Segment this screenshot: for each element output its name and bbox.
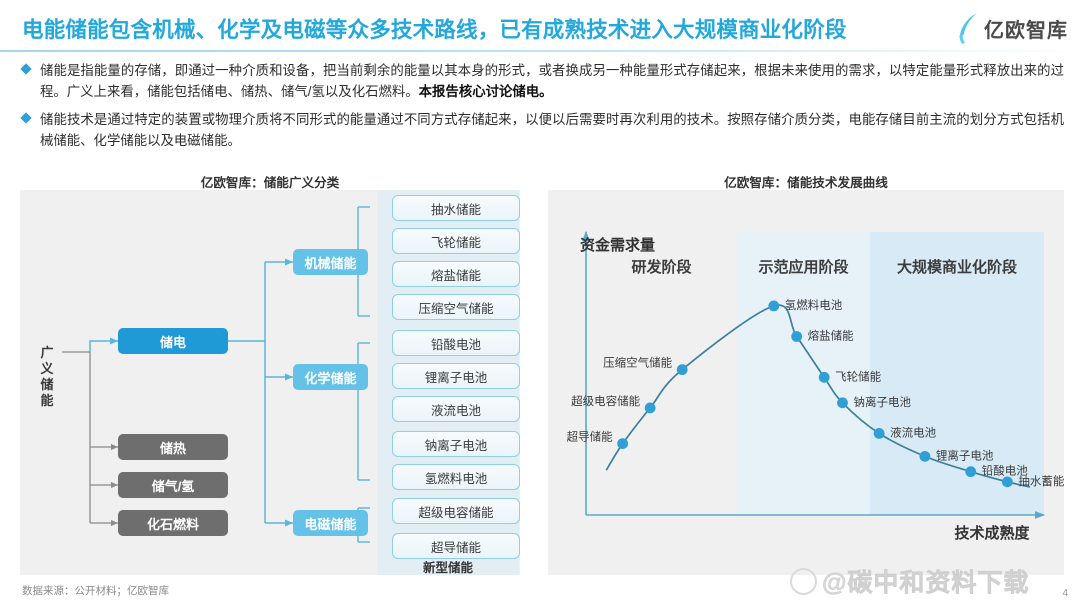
page-title: 电能储能包含机械、化学及电磁等众多技术路线，已有成熟技术进入大规模商业化阶段 — [22, 13, 847, 44]
node-chuqi[interactable]: 储气/氢 — [118, 472, 228, 498]
slide-header: 电能储能包含机械、化学及电磁等众多技术路线，已有成熟技术进入大规模商业化阶段 亿… — [0, 0, 1080, 52]
chart-data-point[interactable] — [1002, 476, 1013, 487]
chart-point-label: 超导储能 — [567, 430, 613, 444]
leaf-qingranliao-dianchi[interactable]: 氢燃料电池 — [392, 464, 520, 490]
bullet-diamond-icon — [20, 112, 31, 123]
slide-root: 电能储能包含机械、化学及电磁等众多技术路线，已有成熟技术进入大规模商业化阶段 亿… — [0, 0, 1080, 607]
bullet-diamond-icon — [20, 63, 31, 74]
chart-band-label: 研发阶段 — [632, 258, 692, 276]
leaf-yeliu-dianchi[interactable]: 液流电池 — [392, 396, 520, 422]
chart-data-point[interactable] — [819, 372, 830, 383]
right-panel-title: 亿欧智库：储能技术发展曲线 — [548, 172, 1064, 191]
chart-point-label: 抽水蓄能 — [1018, 474, 1064, 488]
sprout-leaf-icon — [956, 11, 982, 45]
chart-point-label: 超级电容储能 — [571, 394, 640, 408]
brand-logo: 亿欧智库 — [956, 8, 1068, 48]
node-huaxue-chuneng[interactable]: 化学储能 — [293, 364, 368, 390]
node-jixie-chuneng[interactable]: 机械储能 — [293, 249, 368, 275]
chart-band-label: 大规模商业化阶段 — [897, 258, 1017, 276]
leaf-chouxui-chuneng[interactable]: 抽水储能 — [392, 195, 520, 221]
chart-band-label: 示范应用阶段 — [759, 258, 849, 276]
leaf-lilizi-dianchi[interactable]: 锂离子电池 — [392, 363, 520, 389]
chart-y-axis-label: 资金需求量 — [580, 236, 655, 254]
leaf-yasuo-kongqi-chuneng[interactable]: 压缩空气储能 — [392, 294, 520, 320]
bullet-item-1: 储能是指能量的存储，即通过一种介质和设备，把当前剩余的能量以其本身的形式，或者换… — [18, 60, 1064, 102]
node-churen[interactable]: 储热 — [118, 434, 228, 460]
chart-point-label: 压缩空气储能 — [603, 356, 672, 370]
node-diancai-chuneng[interactable]: 电磁储能 — [293, 510, 368, 536]
chart-point-label: 液流电池 — [890, 425, 936, 439]
bullet-1-emphasis: 本报告核心讨论储电。 — [419, 84, 553, 99]
leaf-feilun-chuneng[interactable]: 飞轮储能 — [392, 228, 520, 254]
watermark: @碳中和资料下载 — [790, 563, 1029, 599]
node-huashiranliao[interactable]: 化石燃料 — [118, 510, 228, 536]
new-type-storage-label: 新型储能 — [377, 557, 519, 576]
brand-name: 亿欧智库 — [984, 14, 1068, 43]
chart-point-label: 熔盐储能 — [808, 329, 854, 343]
watermark-text: @碳中和资料下载 — [822, 563, 1029, 599]
watermark-badge-icon — [790, 568, 817, 595]
chart-data-point[interactable] — [645, 403, 656, 414]
chart-point-label: 锂离子电池 — [936, 448, 994, 462]
leaf-qiansuan-dianchi[interactable]: 铅酸电池 — [392, 330, 520, 356]
chart-data-point[interactable] — [791, 331, 802, 342]
chart-x-axis-label: 技术成熟度 — [954, 524, 1030, 542]
leaf-nalizi-dianchi[interactable]: 钠离子电池 — [392, 431, 520, 457]
chart-data-point[interactable] — [874, 428, 885, 439]
chart-data-point[interactable] — [617, 438, 628, 449]
bullet-list: 储能是指能量的存储，即通过一种介质和设备，把当前剩余的能量以其本身的形式，或者换… — [18, 60, 1064, 158]
data-source-note: 数据来源：公开材料；亿欧智库 — [22, 583, 169, 598]
chart-data-point[interactable] — [768, 301, 779, 312]
chart-point-label: 飞轮储能 — [835, 369, 881, 383]
leaf-chaodao-chuneng[interactable]: 超导储能 — [392, 533, 520, 559]
diagram-root-label: 广义储能 — [38, 345, 56, 409]
chart-data-point[interactable] — [920, 451, 931, 462]
chart-point-label: 钠离子电池 — [853, 395, 911, 409]
leaf-rongyan-chuneng[interactable]: 熔盐储能 — [392, 261, 520, 287]
left-panel-title: 亿欧智库：储能广义分类 — [20, 172, 520, 191]
header-divider — [0, 50, 1080, 52]
chart-data-point[interactable] — [677, 364, 688, 375]
development-curve-chart: 超导储能超级电容储能压缩空气储能氢燃料电池熔盐储能飞轮储能钠离子电池液流电池锂离… — [548, 190, 1064, 575]
page-number: 4 — [1062, 588, 1068, 599]
bullet-2-text: 储能技术是通过特定的装置或物理介质将不同形式的能量通过不同方式存储起来，以便以后… — [40, 112, 1064, 148]
chart-point-label: 氢燃料电池 — [785, 298, 843, 312]
leaf-chaoji-dianrong-chuneng[interactable]: 超级电容储能 — [392, 498, 520, 524]
bullet-item-2: 储能技术是通过特定的装置或物理介质将不同形式的能量通过不同方式存储起来，以便以后… — [18, 109, 1064, 151]
chart-data-point[interactable] — [965, 466, 976, 477]
node-chudian[interactable]: 储电 — [118, 328, 228, 354]
chart-band-labels: 研发阶段示范应用阶段大规模商业化阶段 — [632, 258, 1017, 276]
chart-data-point[interactable] — [837, 397, 848, 408]
